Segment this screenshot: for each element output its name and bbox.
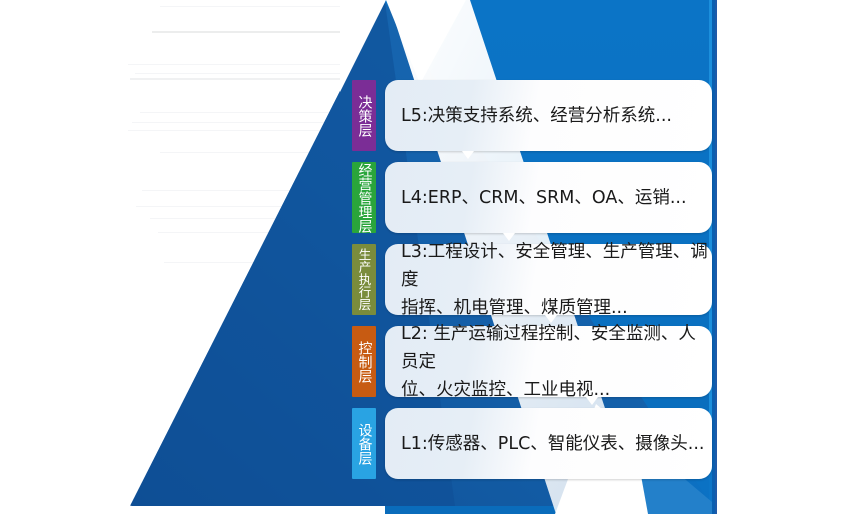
level-row-l2[interactable]: 控制层 L2: 生产运输过程控制、安全监测、人员定 位、火灾监控、工业电视... bbox=[352, 326, 712, 397]
flow-arrow-l4 bbox=[503, 233, 515, 241]
level-row-l5[interactable]: 决策层 L5:决策支持系统、经营分析系统... bbox=[352, 80, 712, 151]
level-text-l5: L5:决策支持系统、经营分析系统... bbox=[401, 102, 672, 130]
level-rows: 决策层 L5:决策支持系统、经营分析系统... 经营管理层 L4:ERP、CRM… bbox=[0, 0, 856, 514]
level-tab-l5[interactable]: 决策层 bbox=[352, 80, 376, 151]
level-tab-l3[interactable]: 生产执行层 bbox=[352, 244, 376, 315]
level-text-l2: L2: 生产运输过程控制、安全监测、人员定 位、火灾监控、工业电视... bbox=[401, 320, 712, 404]
level-tab-l2[interactable]: 控制层 bbox=[352, 326, 376, 397]
level-text-l3: L3:工程设计、安全管理、生产管理、调度 指挥、机电管理、煤质管理... bbox=[401, 238, 712, 322]
flow-arrow-l5 bbox=[462, 151, 474, 159]
level-text-l1: L1:传感器、PLC、智能仪表、摄像头... bbox=[401, 430, 705, 458]
level-row-l1[interactable]: 设备层 L1:传感器、PLC、智能仪表、摄像头... bbox=[352, 408, 712, 479]
level-card-l3[interactable]: L3:工程设计、安全管理、生产管理、调度 指挥、机电管理、煤质管理... bbox=[385, 244, 712, 315]
level-card-l2[interactable]: L2: 生产运输过程控制、安全监测、人员定 位、火灾监控、工业电视... bbox=[385, 326, 712, 397]
level-text-l4: L4:ERP、CRM、SRM、OA、运销... bbox=[401, 184, 687, 212]
flow-arrow-l2 bbox=[586, 397, 598, 405]
level-row-l4[interactable]: 经营管理层 L4:ERP、CRM、SRM、OA、运销... bbox=[352, 162, 712, 233]
level-card-l1[interactable]: L1:传感器、PLC、智能仪表、摄像头... bbox=[385, 408, 712, 479]
level-card-l5[interactable]: L5:决策支持系统、经营分析系统... bbox=[385, 80, 712, 151]
diagram-canvas: 决策层 L5:决策支持系统、经营分析系统... 经营管理层 L4:ERP、CRM… bbox=[0, 0, 856, 514]
level-card-l4[interactable]: L4:ERP、CRM、SRM、OA、运销... bbox=[385, 162, 712, 233]
level-tab-l1[interactable]: 设备层 bbox=[352, 408, 376, 479]
level-tab-l4[interactable]: 经营管理层 bbox=[352, 162, 376, 233]
flow-arrow-l3 bbox=[545, 315, 557, 323]
level-row-l3[interactable]: 生产执行层 L3:工程设计、安全管理、生产管理、调度 指挥、机电管理、煤质管理.… bbox=[352, 244, 712, 315]
